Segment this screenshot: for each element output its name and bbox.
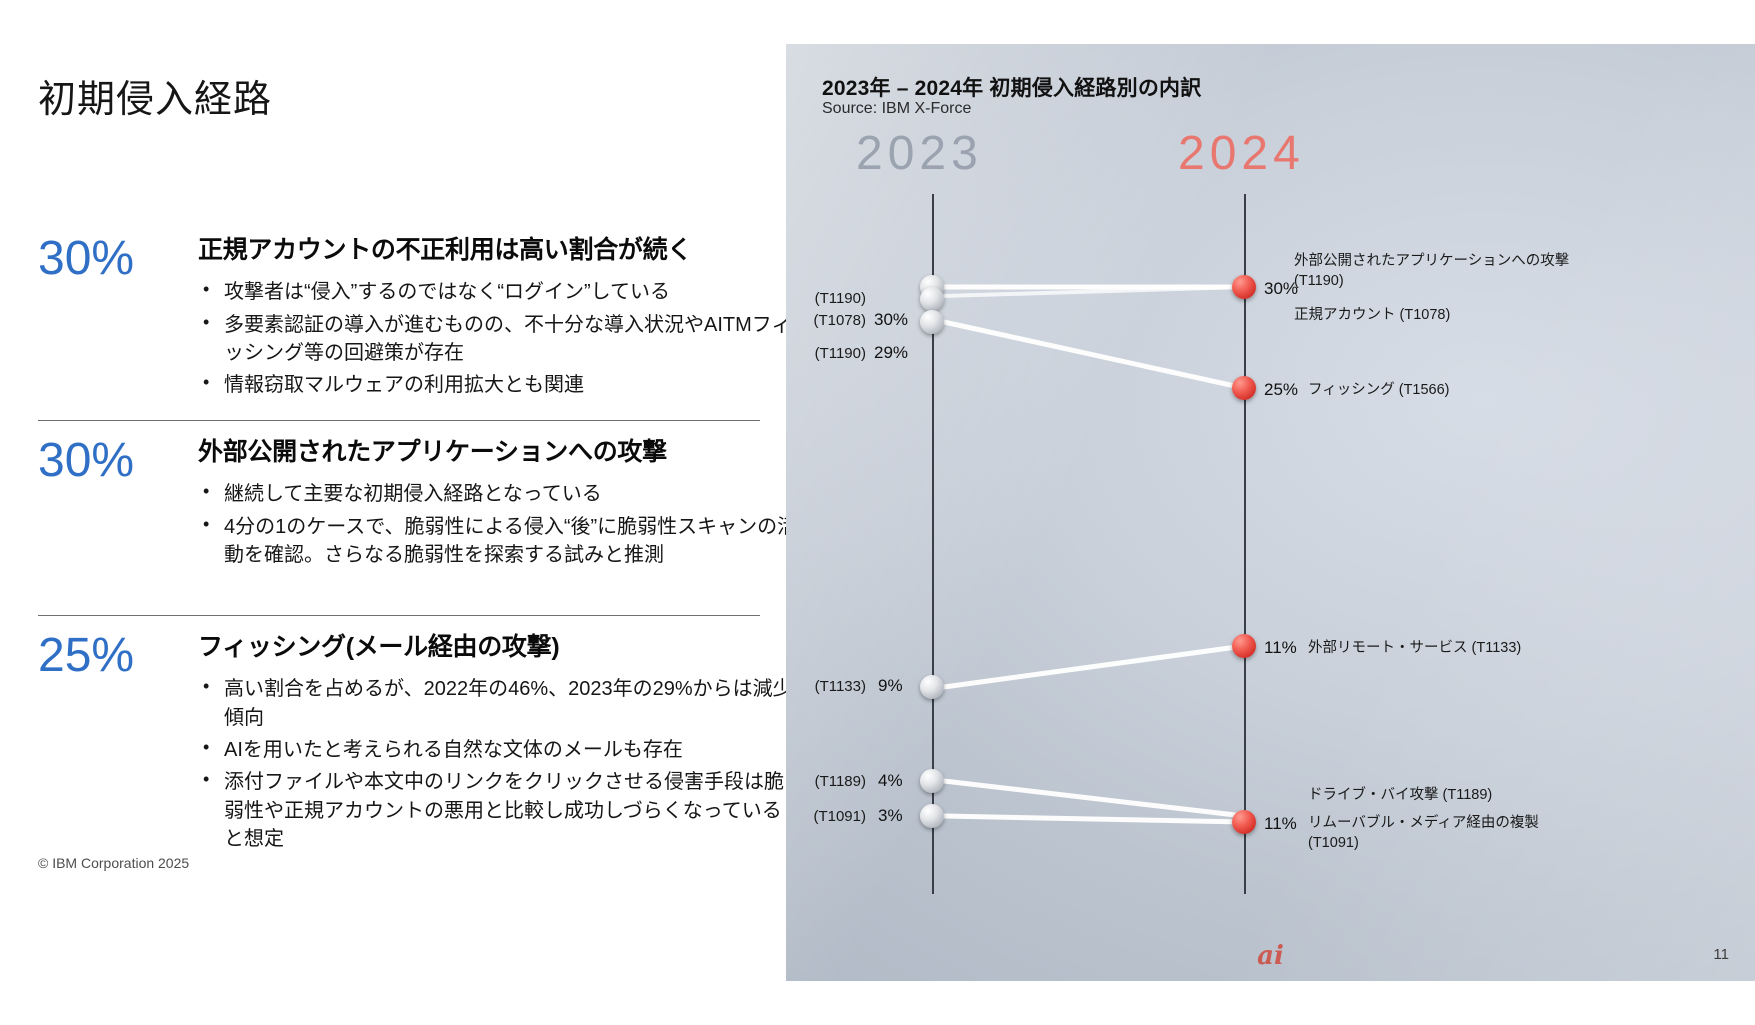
- node-2023-t1190-b: [920, 287, 944, 311]
- label-2024-t1566: フィッシング (T1566): [1308, 381, 1608, 401]
- node-2023-t1189: [920, 769, 944, 793]
- label-2023-t1190-b: (T1190): [786, 345, 866, 362]
- section-2-bullets: 継続して主要な初期侵入経路となっている 4分の1のケースで、脆弱性による侵入“後…: [198, 480, 798, 569]
- label-2023-t1078: (T1078): [786, 312, 866, 329]
- left-content-column: 初期侵入経路 30% 正規アカウントの不正利用は高い割合が続く 攻撃者は“侵入”…: [0, 0, 880, 1025]
- section-1-percent: 30%: [38, 235, 188, 283]
- value-2024-11pct-driveby: 11%: [1264, 814, 1297, 834]
- label-2023-t1091: (T1091): [786, 808, 866, 825]
- section-1-bullets: 攻撃者は“侵入”するのではなく“ログイン”している 多要素認証の導入が進むものの…: [198, 278, 798, 400]
- label-2023-t1190-top: (T1190): [786, 290, 866, 307]
- value-2024-25pct: 25%: [1264, 380, 1298, 400]
- value-2024-30pct: 30%: [1264, 279, 1298, 299]
- watermark: ai: [1257, 941, 1284, 971]
- section-2-heading: 外部公開されたアプリケーションへの攻撃: [198, 437, 798, 468]
- value-2023-30pct: 30%: [874, 310, 908, 330]
- value-2023-3pct: 3%: [878, 806, 903, 826]
- list-item: 継続して主要な初期侵入経路となっている: [198, 480, 798, 508]
- chart-title: 2023年 – 2024年 初期侵入経路別の内訳: [822, 72, 1201, 102]
- section-3-percent: 25%: [38, 632, 188, 680]
- node-2024-11pct-remote: [1232, 634, 1256, 658]
- node-2024-30pct: [1232, 275, 1256, 299]
- list-item: 多要素認証の導入が進むものの、不十分な導入状況やAITMフィッシング等の回避策が…: [198, 311, 798, 368]
- year-label-2024: 2024: [1178, 126, 1305, 181]
- node-2023-t1091: [920, 804, 944, 828]
- section-3-bullets: 高い割合を占めるが、2022年の46%、2023年の29%からは減少傾向 AIを…: [198, 675, 798, 853]
- value-2023-9pct: 9%: [878, 676, 903, 696]
- list-item: 高い割合を占めるが、2022年の46%、2023年の29%からは減少傾向: [198, 675, 798, 732]
- list-item: 4分の1のケースで、脆弱性による侵入“後”に脆弱性スキャンの活動を確認。さらなる…: [198, 513, 798, 570]
- year-label-2023: 2023: [856, 126, 983, 181]
- list-item: 攻撃者は“侵入”するのではなく“ログイン”している: [198, 278, 798, 306]
- page-number: 11: [1713, 946, 1729, 963]
- label-2023-t1189: (T1189): [786, 773, 866, 790]
- divider: [38, 420, 760, 421]
- section-3-heading: フィッシング(メール経由の攻撃): [198, 632, 798, 663]
- chart-source: Source: IBM X-Force: [822, 100, 971, 118]
- node-2023-t1133: [920, 675, 944, 699]
- label-2024-t1190-line1: 外部公開されたアプリケーションへの攻撃: [1294, 252, 1594, 272]
- label-2024-t1078: 正規アカウント (T1078): [1294, 306, 1594, 326]
- label-2024-t1091-line2: (T1091): [1308, 834, 1608, 854]
- divider: [38, 615, 760, 616]
- section-2-percent: 30%: [38, 437, 188, 485]
- chart-panel: 2023年 – 2024年 初期侵入経路別の内訳 Source: IBM X-F…: [786, 44, 1755, 981]
- axis-2024: [1244, 194, 1246, 894]
- page-title: 初期侵入経路: [38, 68, 272, 123]
- label-2024-t1133: 外部リモート・サービス (T1133): [1308, 639, 1618, 659]
- label-2024-t1091-line1: リムーバブル・メディア経由の複製: [1308, 814, 1608, 834]
- node-2024-11pct-driveby: [1232, 810, 1256, 834]
- value-2023-4pct: 4%: [878, 771, 903, 791]
- node-2024-25pct: [1232, 376, 1256, 400]
- section-1-heading: 正規アカウントの不正利用は高い割合が続く: [198, 235, 798, 266]
- copyright-notice: © IBM Corporation 2025: [38, 855, 189, 871]
- label-2024-t1189: ドライブ・バイ攻撃 (T1189): [1308, 786, 1608, 806]
- value-2024-11pct-remote: 11%: [1264, 638, 1297, 658]
- label-2024-t1190-line2: (T1190): [1294, 272, 1594, 292]
- list-item: AIを用いたと考えられる自然な文体のメールも存在: [198, 736, 798, 764]
- value-2023-29pct: 29%: [874, 343, 908, 363]
- list-item: 添付ファイルや本文中のリンクをクリックさせる侵害手段は脆弱性や正規アカウントの悪…: [198, 768, 798, 853]
- label-2023-t1133: (T1133): [786, 678, 866, 695]
- node-2023-t1566: [920, 310, 944, 334]
- slide: 初期侵入経路 30% 正規アカウントの不正利用は高い割合が続く 攻撃者は“侵入”…: [0, 0, 1755, 1025]
- list-item: 情報窃取マルウェアの利用拡大とも関連: [198, 371, 798, 399]
